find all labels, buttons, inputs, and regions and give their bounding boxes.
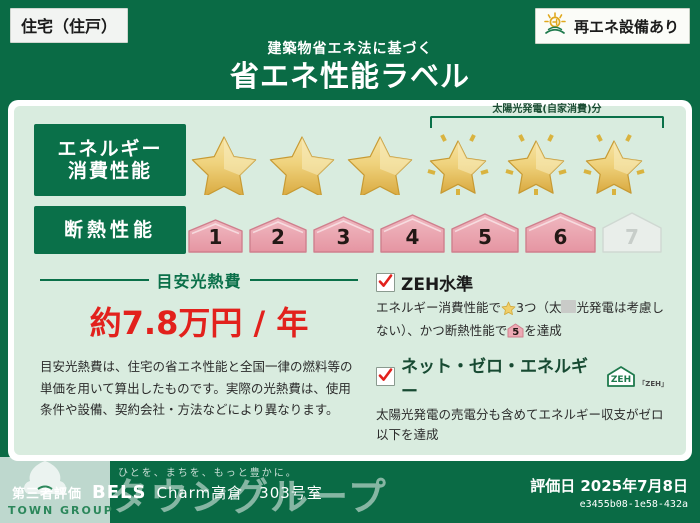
check-icon [376,273,395,292]
insulation-level-scale: 1 2 [186,208,668,254]
energy-performance-label: 住宅（住戸） 再エネ設備あり 建築物省エネ法に基づく 省エネ性能ラベル [0,0,700,523]
utility-cost-section: 目安光熱費 約7.8万円 / 年 目安光熱費は、住宅の省エネ性能と全国一律の燃料… [28,264,366,447]
star-icon-inline [501,301,516,321]
house-badge-icon: 1 [186,218,245,254]
house-badge-icon: 6 [523,211,598,254]
zeh-standard-heading: ZEH水準 [376,270,668,295]
zeh-section: ZEH水準 エネルギー消費性能で 3つ（太陽光発電は考慮しない）、かつ断熱性能で [366,264,672,447]
solar-bracket-line [430,116,664,128]
label-footer: 第三者評価 BELS Charm高倉 303号室 評価日 2025年7月8日 e… [0,461,700,523]
insulation-level-value: 6 [554,225,568,254]
star-icon [264,131,340,195]
insulation-level-value: 5 [478,225,492,254]
title-subtitle: 建築物省エネ法に基づく [0,42,700,57]
utility-cost-value: 約7.8万円 / 年 [40,298,358,344]
star-rating [186,130,668,196]
star-icon [342,131,418,195]
svg-text:ZEH: ZEH [611,375,631,385]
zeh-desc-part1: エネルギー消費性能で [376,300,501,315]
house-badge-icon: 4 [378,213,447,254]
zeh-desc-part2: 3つ（太 [516,300,561,315]
zeh-desc-level: 5 [507,325,524,341]
label-inner-panel: エネルギー 消費性能 太陽光発電(自家消費)分 [14,106,686,455]
energy-performance-label: エネルギー 消費性能 [34,124,186,196]
renewable-equipment-badge: 再エネ設備あり [535,8,690,44]
redacted-character: 陽 [561,300,576,313]
insulation-level-value: 1 [209,225,223,254]
details-columns: 目安光熱費 約7.8万円 / 年 目安光熱費は、住宅の省エネ性能と全国一律の燃料… [28,264,672,447]
insulation-levels-area: 1 2 [186,206,672,254]
star-icon-solar [498,131,574,195]
net-zero-heading: ネット・ゼロ・エネルギー ZEH 「ZEH」 [376,352,668,402]
footer-content: 第三者評価 BELS Charm高倉 303号室 評価日 2025年7月8日 e… [0,461,700,523]
utility-cost-note: 目安光熱費は、住宅の省エネ性能と全国一律の燃料等の単価を用いて算出したものです。… [40,356,358,421]
sun-icon [542,12,568,40]
energy-label-line2: 消費性能 [68,160,152,182]
footer-right: 評価日 2025年7月8日 e3455b08-1e58-432a [530,475,688,510]
record-id: e3455b08-1e58-432a [530,499,688,510]
zeh-logo: ZEH 「ZEH」 [606,365,668,389]
insulation-level-value: 7 [625,225,639,254]
house-badge-icon: 3 [311,215,376,254]
evaluation-date-value: 2025年7月8日 [580,477,688,495]
page-title: 省エネ性能ラベル [0,59,700,94]
evaluation-date-label: 評価日 [530,477,575,495]
building-name: Charm高倉 303号室 [156,482,322,503]
utility-cost-heading: 目安光熱費 [40,268,358,292]
net-zero-title: ネット・ゼロ・エネルギー [401,352,597,402]
label-title-block: 建築物省エネ法に基づく 省エネ性能ラベル [0,42,700,94]
house-badge-icon: 5 [449,212,521,254]
house-badge-icon: 2 [247,216,309,254]
label-inner-frame: エネルギー 消費性能 太陽光発電(自家消費)分 [8,100,692,461]
star-icon-solar [420,131,496,195]
heading-rule-left [40,279,149,281]
star-icon [186,131,262,195]
energy-performance-row: エネルギー 消費性能 太陽光発電(自家消費)分 [34,124,672,196]
insulation-level-value: 4 [406,225,420,254]
renewable-badge-label: 再エネ設備あり [574,16,679,37]
energy-stars-area: 太陽光発電(自家消費)分 [186,124,672,196]
check-icon [376,367,395,386]
insulation-level-value: 3 [337,225,351,254]
zeh-desc-part4: を達成 [524,323,562,338]
house-badge-icon-inline: 5 [507,323,524,338]
insulation-performance-row: 断熱性能 [34,206,672,254]
insulation-level-value: 2 [271,225,285,254]
zeh-logo-caption: 「ZEH」 [638,379,668,389]
energy-label-line1: エネルギー [57,138,162,160]
zeh-standard-description: エネルギー消費性能で 3つ（太陽光発電は考慮しない）、かつ断熱性能で 5 を達成 [376,298,668,342]
bels-scheme-label: BELS [92,482,146,503]
net-zero-energy-block: ネット・ゼロ・エネルギー ZEH 「ZEH」 太陽光発電の売電分も含めてエネルギ… [376,352,668,446]
third-party-eval-label: 第三者評価 [12,483,82,502]
net-zero-description: 太陽光発電の売電分も含めてエネルギー収支がゼロ以下を達成 [376,405,668,446]
house-badge-icon-inactive: 7 [600,210,664,254]
zeh-standard-title: ZEH水準 [401,270,473,295]
building-type-tag: 住宅（住戸） [10,8,128,43]
evaluation-date-line: 評価日 2025年7月8日 [530,475,688,496]
footer-left: 第三者評価 BELS Charm高倉 303号室 [12,482,530,503]
solar-bracket-label: 太陽光発電(自家消費)分 [430,100,664,115]
utility-cost-heading-text: 目安光熱費 [157,268,242,292]
star-icon-solar [576,131,652,195]
insulation-performance-label: 断熱性能 [34,206,186,254]
zeh-standard-block: ZEH水準 エネルギー消費性能で 3つ（太陽光発電は考慮しない）、かつ断熱性能で [376,270,668,342]
heading-rule-right [250,279,359,281]
